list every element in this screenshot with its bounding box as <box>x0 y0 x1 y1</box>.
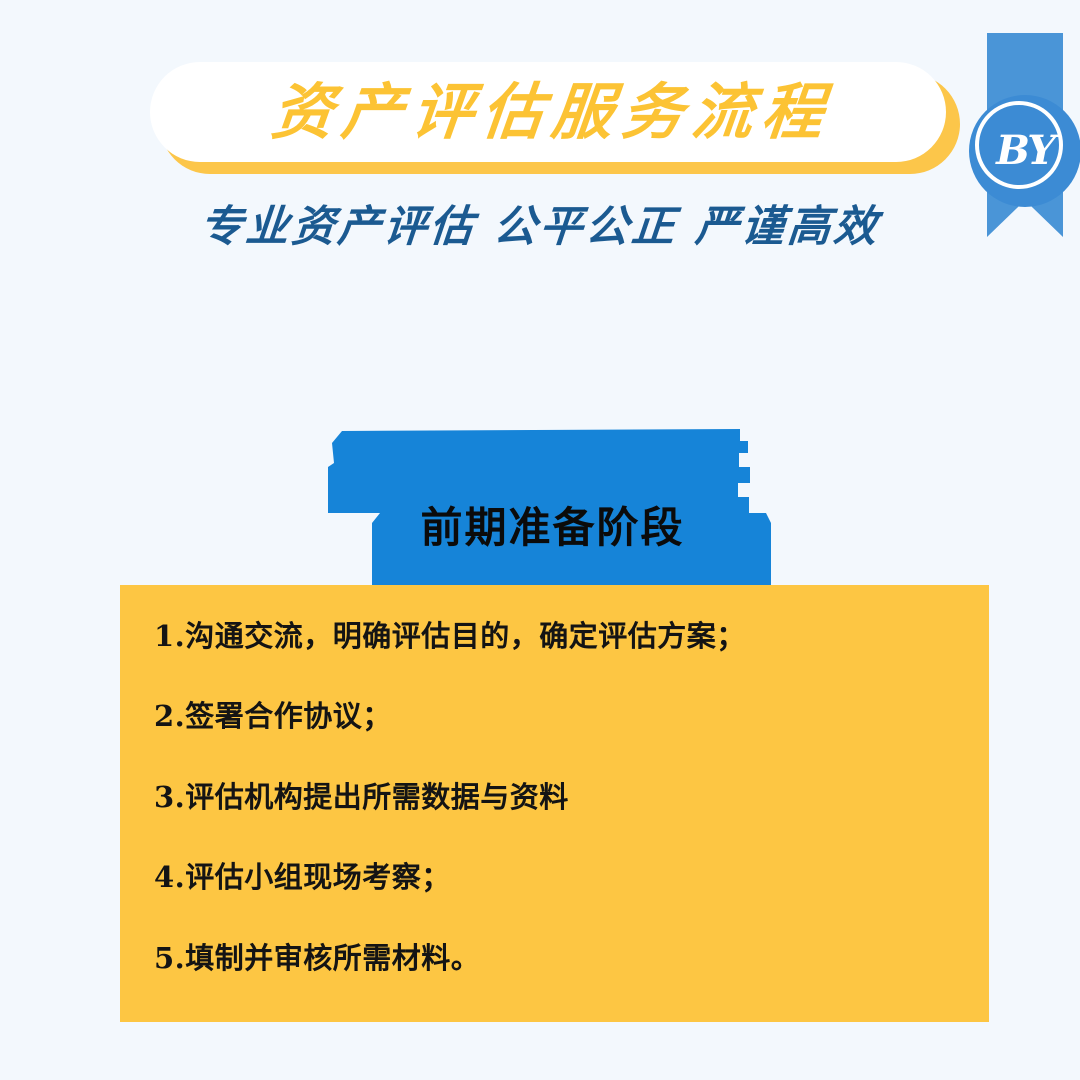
list-item: 3.评估机构提出所需数据与资料 <box>154 780 955 815</box>
ribbon-badge: BY <box>987 33 1063 237</box>
stage-title: 前期准备阶段 <box>320 427 785 587</box>
title-banner: 资产评估服务流程 <box>150 62 950 168</box>
title-pill: 资产评估服务流程 <box>150 62 946 162</box>
page-title: 资产评估服务流程 <box>261 82 835 143</box>
list-item: 4.评估小组现场考察； <box>154 860 955 895</box>
stage-content-card: 1.沟通交流，明确评估目的，确定评估方案； 2.签署合作协议； 3.评估机构提出… <box>120 585 989 1022</box>
list-item: 1.沟通交流，明确评估目的，确定评估方案； <box>154 619 955 654</box>
list-item: 5.填制并审核所需材料。 <box>154 941 955 976</box>
badge-circle-icon: BY <box>969 95 1080 207</box>
list-item: 2.签署合作协议； <box>154 699 955 734</box>
badge-label: BY <box>996 131 1054 171</box>
poster-canvas: 资产评估服务流程 专业资产评估 公平公正 严谨高效 BY 前期准备阶段 1.沟通… <box>0 0 1080 1080</box>
page-subtitle: 专业资产评估 公平公正 严谨高效 <box>0 192 1080 254</box>
stage-banner: 前期准备阶段 <box>320 427 785 587</box>
